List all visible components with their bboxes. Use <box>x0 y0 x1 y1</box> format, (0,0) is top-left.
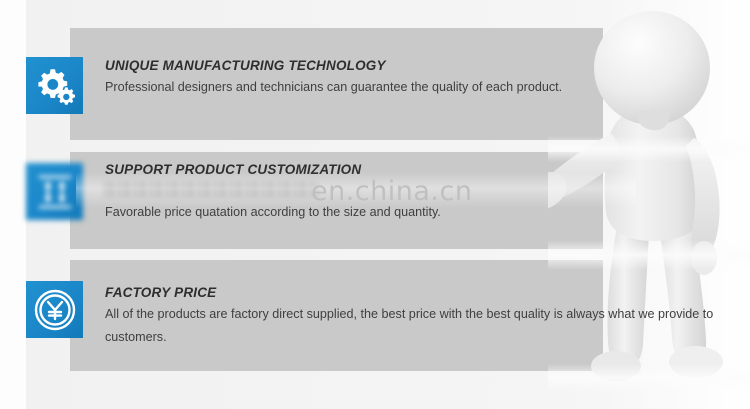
feature-body: Professional designers and technicians c… <box>105 76 732 99</box>
feature-body: All of the products are factory direct s… <box>105 303 732 350</box>
feature-heading: UNIQUE MANUFACTURING TECHNOLOGY <box>105 58 732 73</box>
banner-canvas: UNIQUE MANUFACTURING TECHNOLOGY Professi… <box>0 0 750 409</box>
redacted-text-bar <box>103 182 318 197</box>
gears-icon <box>26 57 83 114</box>
watermark: en.china.cn <box>311 176 472 207</box>
yen-coin-icon <box>26 281 83 338</box>
resize-arrows-icon <box>26 163 83 220</box>
feature-heading: FACTORY PRICE <box>105 285 732 300</box>
background-left-margin <box>0 0 26 409</box>
feature-text-block: FACTORY PRICE All of the products are fa… <box>105 285 732 350</box>
feature-heading: SUPPORT PRODUCT CUSTOMIZATION <box>105 162 732 177</box>
feature-text-block: UNIQUE MANUFACTURING TECHNOLOGY Professi… <box>105 58 732 99</box>
